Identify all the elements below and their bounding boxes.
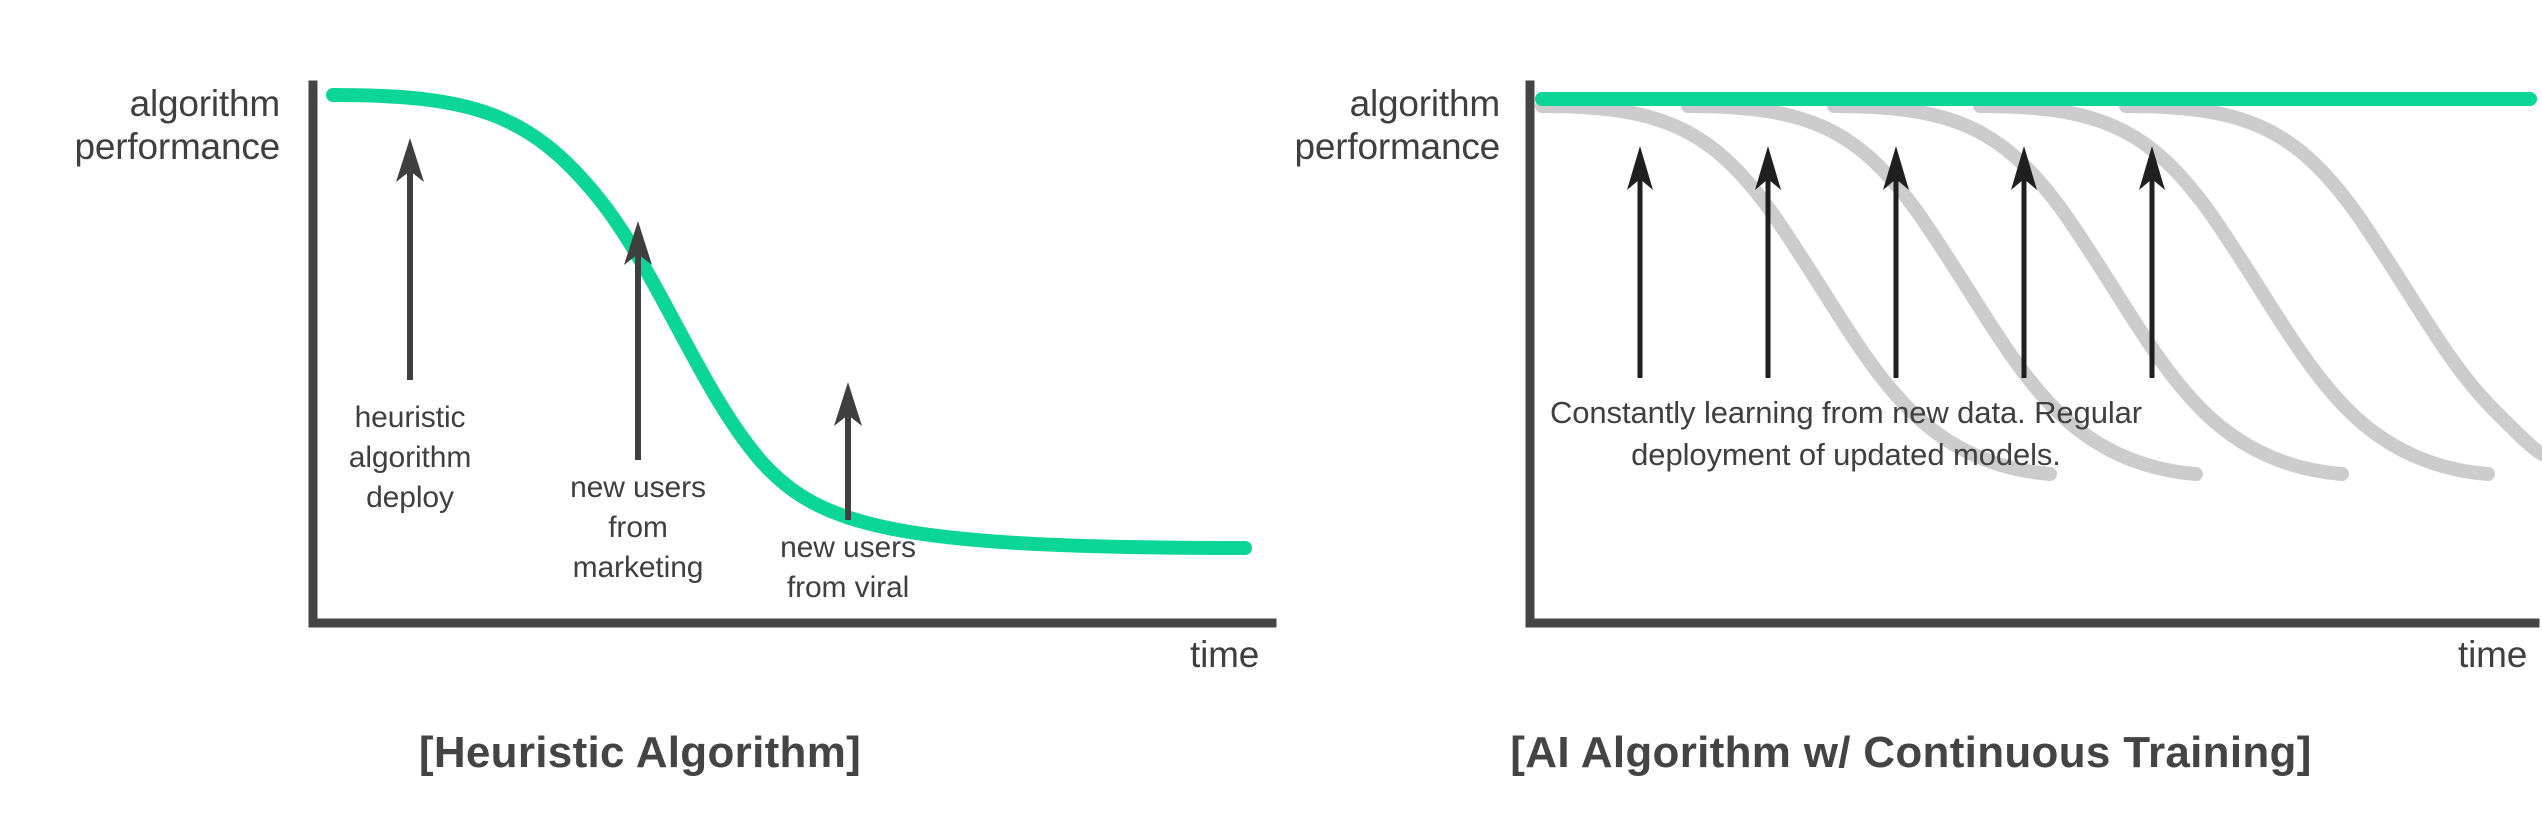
panel-caption-heuristic: [Heuristic Algorithm] <box>0 728 1280 778</box>
annotation-retrain-note: Constantly learning from new data. Regul… <box>1516 392 2176 476</box>
panel-ai-continuous-training: algorithm performance time Constantly le… <box>1280 0 2542 820</box>
y-axis-label: algorithm performance <box>30 82 280 169</box>
retrain-arrow-1 <box>1627 146 1653 378</box>
panel-caption-ai-continuous: [AI Algorithm w/ Continuous Training] <box>1280 728 2542 778</box>
retrain-arrow-4 <box>2011 146 2037 378</box>
retrain-arrow-2 <box>1755 146 1781 378</box>
retrain-arrow-3 <box>1883 146 1909 378</box>
annotation-arrow-deploy <box>396 138 424 380</box>
panel-heuristic-algorithm: algorithm performance time heuristic alg… <box>0 0 1280 820</box>
x-axis-label: time <box>1190 634 1259 676</box>
figure-canvas: algorithm performance time heuristic alg… <box>0 0 2542 820</box>
annotation-marketing: new users from marketing <box>518 468 758 588</box>
retrain-arrows <box>1627 146 2165 378</box>
annotation-viral: new users from viral <box>728 528 968 608</box>
annotation-arrow-marketing <box>624 221 652 460</box>
annotation-deploy: heuristic algorithm deploy <box>290 398 530 518</box>
x-axis-label: time <box>2458 634 2527 676</box>
y-axis-label: algorithm performance <box>1260 82 1500 169</box>
annotation-arrow-viral <box>834 382 862 520</box>
